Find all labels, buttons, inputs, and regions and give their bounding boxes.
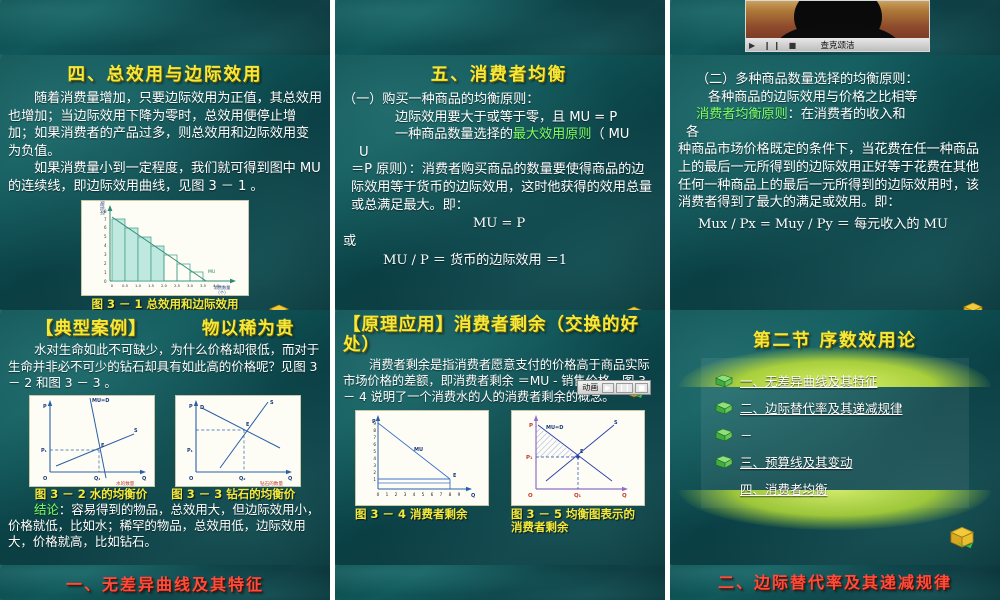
figure-3-5-chart: P P₁ O Q₁ Q MU=D S E bbox=[512, 411, 646, 507]
slide-3-line-3: 消费者均衡原则：在消费者的收入和 bbox=[678, 106, 992, 124]
svg-text:5: 5 bbox=[104, 234, 107, 239]
gold-box-icon bbox=[960, 298, 986, 310]
figure-3-5: P P₁ O Q₁ Q MU=D S E bbox=[511, 410, 645, 506]
svg-text:E: E bbox=[453, 473, 457, 479]
book-icon bbox=[715, 455, 733, 469]
svg-text:Q₂: Q₂ bbox=[239, 476, 245, 482]
slide-2-line-4: U bbox=[343, 144, 655, 162]
svg-text:8: 8 bbox=[104, 209, 107, 214]
list-item-2-label: 二、边际替代率及其递减规律 bbox=[740, 398, 903, 417]
slide-3-line-1: （二）多种商品数量选择的均衡原则： bbox=[678, 71, 992, 89]
gold-box-icon bbox=[621, 302, 647, 310]
svg-text:P: P bbox=[43, 404, 47, 410]
slide-3-line-4: 各 bbox=[678, 124, 992, 142]
slide-strip-bottom-left[interactable]: 一、无差异曲线及其特征 bbox=[0, 565, 330, 600]
figure-3-5-caption: 图 3 － 5 均衡图表示的消费者剩余 bbox=[511, 508, 645, 534]
animation-stop-button[interactable]: ■ bbox=[635, 383, 648, 393]
svg-text:3.0: 3.0 bbox=[187, 283, 194, 288]
svg-text:（个）: （个） bbox=[216, 290, 229, 295]
svg-text:MU: MU bbox=[414, 447, 423, 453]
svg-text:Q: Q bbox=[622, 493, 627, 499]
svg-text:Q: Q bbox=[142, 476, 146, 482]
slide-3[interactable]: （二）多种商品数量选择的均衡原则： 各种商品的边际效用与价格之比相等 消费者均衡… bbox=[670, 55, 1000, 310]
svg-text:5: 5 bbox=[422, 492, 425, 497]
list-item-2[interactable]: 二、边际替代率及其递减规律 bbox=[701, 394, 969, 421]
book-icon bbox=[715, 374, 733, 388]
figure-3-2: MU=D S E P P₁ O Q₁ Q 水的数量 bbox=[29, 395, 155, 487]
svg-text:3.5: 3.5 bbox=[200, 283, 207, 288]
figure-3-2-caption: 图 3 － 2 水的均衡价 bbox=[35, 488, 148, 501]
svg-text:2: 2 bbox=[373, 470, 376, 475]
video-thumbnail[interactable]: ▶ ❙❙ ■ 查克颂洁 bbox=[745, 0, 930, 52]
slide-5[interactable]: 【原理应用】消费者剩余（交换的好处） 消费者剩余是指消费者愿意支付的价格高于商品… bbox=[335, 310, 665, 565]
svg-text:O: O bbox=[43, 476, 47, 482]
list-item-3[interactable]: － bbox=[701, 421, 969, 448]
svg-text:8: 8 bbox=[373, 428, 376, 433]
svg-text:D: D bbox=[200, 405, 204, 411]
slide-1-title: 四、总效用与边际效用 bbox=[8, 61, 322, 86]
svg-text:9: 9 bbox=[458, 492, 461, 497]
svg-text:1: 1 bbox=[373, 477, 376, 482]
list-item-4-label: 三、预算线及其变动 bbox=[740, 452, 853, 471]
svg-text:0: 0 bbox=[104, 279, 107, 284]
svg-text:MU: MU bbox=[208, 269, 215, 275]
svg-text:6: 6 bbox=[431, 492, 434, 497]
svg-text:水的数量: 水的数量 bbox=[116, 480, 135, 487]
slide-2-line-6: 或 bbox=[343, 233, 655, 251]
section-list-panel: 一、无差异曲线及其特征 二、边际替代率及其递减规律 － bbox=[701, 358, 969, 508]
slide-4-paragraph: 水对生命如此不可缺少，为什么价格却很低，而对于生命并非必不可少的钻石却具有如此高… bbox=[8, 342, 322, 392]
svg-text:E: E bbox=[246, 422, 250, 428]
figure-3-3-chart: S D E P P₁ O Q₂ Q 钻石的数量 bbox=[176, 396, 302, 488]
svg-text:1.5: 1.5 bbox=[148, 283, 155, 288]
svg-text:4: 4 bbox=[413, 492, 416, 497]
svg-text:P₁: P₁ bbox=[187, 448, 193, 454]
figure-3-1-chart: 边际效用 MU 012 345 678 bbox=[82, 201, 250, 297]
svg-text:1: 1 bbox=[104, 270, 107, 275]
slide-strip-bottom-middle bbox=[335, 565, 665, 600]
slide-1-paragraph-1: 随着消费量增加，只要边际效用为正值，其总效用也增加；当边际效用下降为零时，总效用… bbox=[8, 90, 322, 160]
svg-text:S: S bbox=[134, 428, 138, 434]
slide-2-title: 五、消费者均衡 bbox=[343, 61, 655, 86]
slide-2-line-2: 边际效用要大于或等于零，且 MU = P bbox=[343, 109, 655, 127]
slide-2-line-3: 一种商品数量选择的最大效用原则（ MU bbox=[343, 126, 655, 144]
slide-strip-top-middle bbox=[335, 0, 665, 55]
svg-text:2.5: 2.5 bbox=[174, 283, 181, 288]
slide-2-line-3b: （ MU bbox=[591, 127, 629, 142]
slide-2-formula-2: MU / P ＝ 货币的边际效用 ＝1 bbox=[343, 252, 655, 270]
list-item-5[interactable]: 四、消费者均衡 bbox=[701, 475, 969, 502]
svg-text:钻石的数量: 钻石的数量 bbox=[260, 480, 283, 487]
svg-text:2: 2 bbox=[104, 261, 107, 266]
animation-pause-button[interactable]: ❙❙ bbox=[616, 383, 634, 393]
svg-text:E: E bbox=[101, 443, 105, 449]
book-icon bbox=[715, 428, 733, 442]
svg-text:5: 5 bbox=[373, 449, 376, 454]
slide-3-paragraph: 种商品市场价格既定的条件下，当花费在任一种商品上的最后一元所得到的边际效用正好等… bbox=[678, 141, 992, 211]
list-item-4[interactable]: 三、预算线及其变动 bbox=[701, 448, 969, 475]
svg-text:6: 6 bbox=[104, 225, 107, 230]
spacer bbox=[715, 482, 733, 496]
svg-text:2.0: 2.0 bbox=[161, 283, 168, 288]
figure-3-4-chart: P 987 654 321 012 345 678 9 MU E Q bbox=[356, 411, 490, 507]
slide-3-line-2: 各种商品的边际效用与价格之比相等 bbox=[678, 89, 992, 107]
video-controls[interactable]: ▶ ❙❙ ■ bbox=[749, 41, 799, 50]
slide-1[interactable]: 四、总效用与边际效用 随着消费量增加，只要边际效用为正值，其总效用也增加；当边际… bbox=[0, 55, 330, 310]
svg-text:E: E bbox=[580, 449, 584, 455]
svg-text:0: 0 bbox=[111, 283, 114, 288]
animation-toolbar[interactable]: 动画 ▶ ❙❙ ■ bbox=[577, 380, 651, 395]
slide-2-formula-1: MU = P bbox=[343, 215, 655, 233]
svg-text:MU=D: MU=D bbox=[92, 398, 109, 404]
figure-3-1: 边际效用 MU 012 345 678 bbox=[81, 200, 249, 296]
svg-text:P: P bbox=[529, 423, 533, 429]
svg-text:MU=D: MU=D bbox=[546, 425, 563, 431]
slide-6[interactable]: 第二节 序数效用论 一、无差异曲线及其特征 二、边际替代率及其递减规律 bbox=[670, 310, 1000, 565]
gold-box-icon bbox=[946, 521, 978, 551]
list-item-5-label: 四、消费者均衡 bbox=[740, 479, 828, 498]
slide-strip-top-right: ▶ ❙❙ ■ 查克颂洁 bbox=[670, 0, 1000, 55]
slide-4-title-right: 物以稀为贵 bbox=[202, 315, 295, 340]
svg-text:O: O bbox=[189, 476, 193, 482]
slide-strip-top-left bbox=[0, 0, 330, 55]
book-icon bbox=[715, 401, 733, 415]
svg-text:1: 1 bbox=[386, 492, 389, 497]
animation-toolbar-label: 动画 bbox=[580, 382, 600, 393]
slide-3-line-3b: ：在消费者的收入和 bbox=[788, 107, 906, 122]
svg-text:7: 7 bbox=[440, 492, 443, 497]
slide-strip-bottom-right[interactable]: 二、边际替代率及其递减规律 bbox=[670, 565, 1000, 600]
figure-3-4-caption: 图 3 － 4 消费者剩余 bbox=[355, 508, 489, 534]
svg-text:Q: Q bbox=[471, 493, 475, 499]
svg-text:3: 3 bbox=[104, 252, 107, 257]
slide-4[interactable]: 【典型案例】 物以稀为贵 水对生命如此不可缺少，为什么价格却很低，而对于生命并非… bbox=[0, 310, 330, 565]
figure-3-2-chart: MU=D S E P P₁ O Q₁ Q 水的数量 bbox=[30, 396, 156, 488]
list-item-3-label: － bbox=[740, 425, 753, 444]
slide-4-title-left: 【典型案例】 bbox=[36, 315, 147, 340]
list-item-1-label: 一、无差异曲线及其特征 bbox=[740, 371, 878, 390]
animation-play-button[interactable]: ▶ bbox=[602, 383, 613, 393]
svg-text:3: 3 bbox=[404, 492, 407, 497]
slide-7-title: 一、无差异曲线及其特征 bbox=[0, 571, 330, 595]
figure-3-3: S D E P P₁ O Q₂ Q 钻石的数量 bbox=[175, 395, 301, 487]
slide-3-highlight: 消费者均衡原则 bbox=[696, 107, 788, 122]
slide-5-title-left: 【原理应用】 bbox=[343, 315, 454, 335]
slide-2-highlight: 最大效用原则 bbox=[513, 127, 592, 142]
slide-3-formula: Mux / Px = Muy / Py ＝ 每元收入的 MU bbox=[678, 216, 992, 234]
svg-text:P: P bbox=[189, 404, 193, 410]
figure-3-4: P 987 654 321 012 345 678 9 MU E Q bbox=[355, 410, 489, 506]
slide-8-title: 二、边际替代率及其递减规律 bbox=[670, 569, 1000, 593]
svg-text:8: 8 bbox=[449, 492, 452, 497]
svg-text:6: 6 bbox=[373, 442, 376, 447]
svg-text:1.0: 1.0 bbox=[135, 283, 142, 288]
svg-text:0: 0 bbox=[377, 492, 380, 497]
svg-text:3: 3 bbox=[373, 463, 376, 468]
slide-2-line-3a: 一种商品数量选择的 bbox=[395, 127, 513, 142]
figure-3-3-caption: 图 3 － 3 钻石的均衡价 bbox=[171, 488, 295, 501]
svg-text:S: S bbox=[614, 420, 618, 426]
svg-text:S: S bbox=[270, 400, 274, 406]
svg-text:7: 7 bbox=[373, 435, 376, 440]
svg-text:4: 4 bbox=[373, 456, 376, 461]
svg-text:Q: Q bbox=[288, 476, 292, 482]
svg-text:O: O bbox=[528, 493, 533, 499]
svg-text:P₁: P₁ bbox=[41, 448, 47, 454]
svg-text:Q₁: Q₁ bbox=[574, 493, 582, 499]
slide-2-line-5: ＝P 原则）：消费者购买商品的数量要使得商品的边际效用等于货币的边际效用，这时他… bbox=[343, 161, 655, 214]
slide-2-line-1: （一）购买一种商品的均衡原则： bbox=[343, 91, 655, 109]
svg-text:4: 4 bbox=[104, 243, 107, 248]
svg-text:7: 7 bbox=[104, 217, 107, 222]
svg-text:2: 2 bbox=[395, 492, 398, 497]
video-caption: 查克颂洁 bbox=[820, 39, 854, 51]
slide-deck: ▶ ❙❙ ■ 查克颂洁 四、总效用与边际效用 随着消费量增加，只要边际效用为正值… bbox=[0, 0, 1000, 600]
slide-4-conclusion-label: 结论 bbox=[34, 502, 59, 517]
slide-2[interactable]: 五、消费者均衡 （一）购买一种商品的均衡原则： 边际效用要大于或等于零，且 MU… bbox=[335, 55, 665, 310]
svg-text:P₁: P₁ bbox=[526, 455, 533, 461]
svg-text:Q₁: Q₁ bbox=[94, 476, 100, 482]
slide-5-title: 【原理应用】消费者剩余（交换的好处） bbox=[343, 315, 657, 355]
slide-1-paragraph-2: 如果消费量小到一定程度，我们就可得到图中 MU 的连续线，即边际效用曲线，见图 … bbox=[8, 160, 322, 195]
list-item-1[interactable]: 一、无差异曲线及其特征 bbox=[701, 367, 969, 394]
gold-box-icon bbox=[266, 300, 292, 310]
svg-text:9: 9 bbox=[373, 421, 376, 426]
svg-text:0.5: 0.5 bbox=[122, 283, 129, 288]
